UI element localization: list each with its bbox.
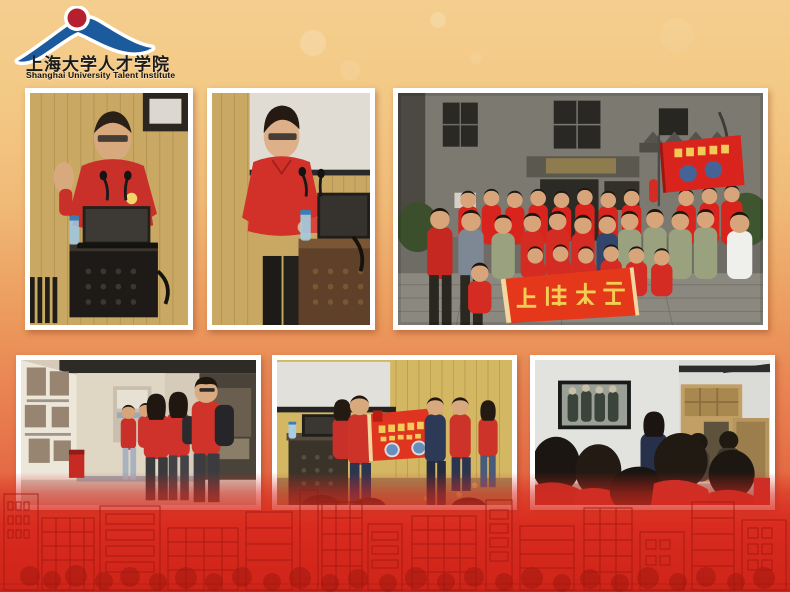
institute-logo: 上海大学人才学院 Shanghai University Talent Inst… <box>12 6 187 82</box>
logo-name-en: Shanghai University Talent Institute <box>26 70 175 80</box>
photo-image <box>212 93 370 325</box>
skyline-decoration <box>0 472 790 592</box>
photo-lecture-senior-speaker[interactable] <box>25 88 193 330</box>
poster-canvas: 上海大学人才学院 Shanghai University Talent Inst… <box>0 0 790 592</box>
photo-lecture-student-speaker[interactable] <box>207 88 375 330</box>
light-blob <box>430 12 446 28</box>
photo-group-front-of-building[interactable] <box>393 88 768 330</box>
light-blob <box>300 30 326 56</box>
light-blob <box>340 60 360 80</box>
light-blob <box>660 18 694 52</box>
stage-banner <box>369 409 430 461</box>
photo-image <box>30 93 188 325</box>
light-blob <box>470 52 482 64</box>
photo-image <box>398 93 763 325</box>
logo-sun-icon <box>68 9 87 28</box>
